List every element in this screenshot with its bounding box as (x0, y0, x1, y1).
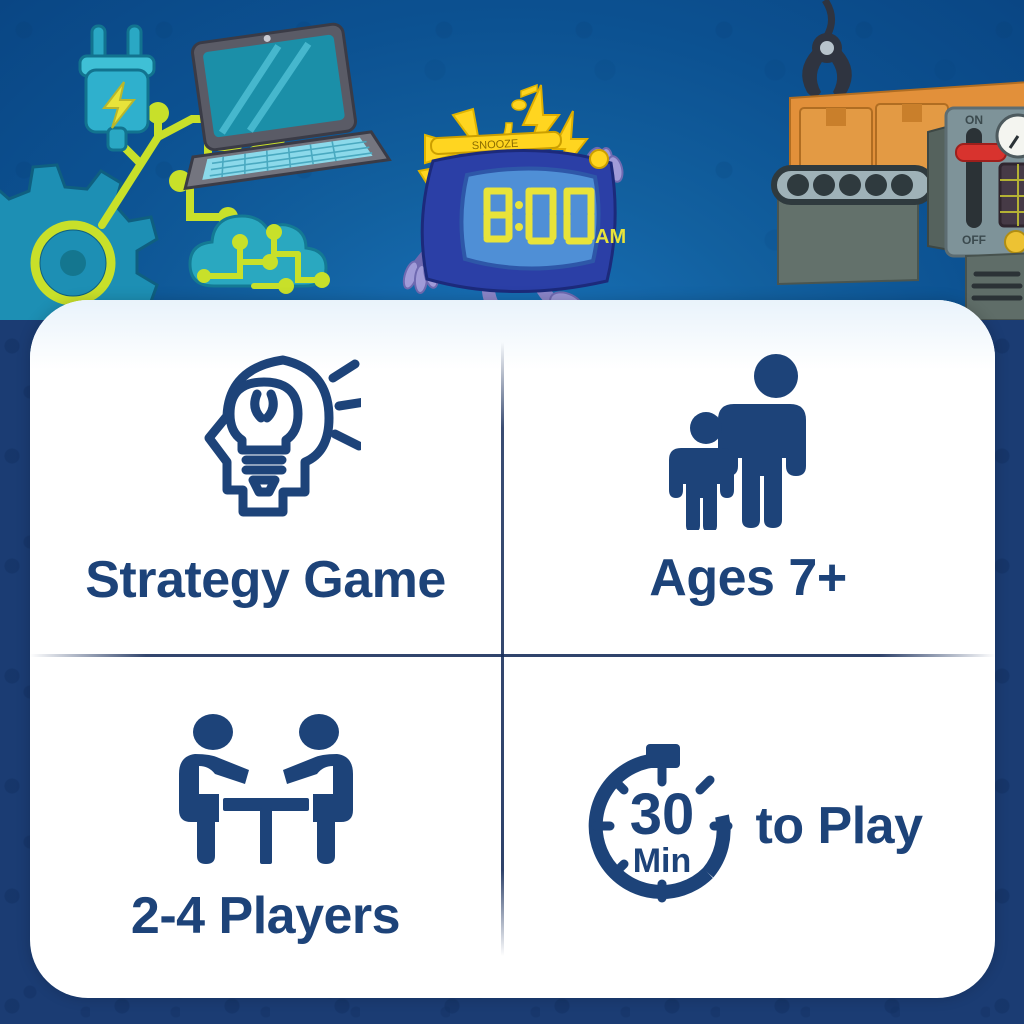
feature-players: 2-4 Players (30, 654, 501, 998)
feature-play-time: 30 Min to Play (501, 654, 995, 998)
stopwatch-unit: Min (632, 842, 691, 880)
machine-on-label: ON (965, 113, 983, 127)
machine-off-label: OFF (962, 233, 986, 247)
play-time-caption: to Play (756, 800, 923, 852)
factory-machine-icon: ON OFF (760, 60, 1024, 320)
laptop-icon (168, 20, 398, 210)
stopwatch-number: 30 (629, 782, 694, 847)
cloud-circuit-icon (180, 190, 370, 310)
meridiem-label: AM (595, 226, 626, 248)
stopwatch-icon: 30 Min (574, 738, 750, 914)
players-caption: 2-4 Players (131, 890, 400, 942)
head-lightbulb-icon (171, 348, 361, 528)
adult-child-figures-icon (658, 350, 838, 530)
product-feature-graphic: SNOOZE AM (0, 0, 1024, 1024)
banner-illustration: SNOOZE AM (0, 0, 1024, 320)
feature-strategy-game: Strategy Game (30, 300, 501, 654)
two-players-table-icon (161, 710, 371, 870)
strategy-caption: Strategy Game (85, 554, 446, 606)
feature-card: Strategy Game Ages 7+ (30, 300, 995, 998)
feature-ages: Ages 7+ (501, 300, 995, 654)
ages-caption: Ages 7+ (649, 552, 846, 604)
alarm-clock-character-icon: SNOOZE AM (395, 75, 645, 320)
